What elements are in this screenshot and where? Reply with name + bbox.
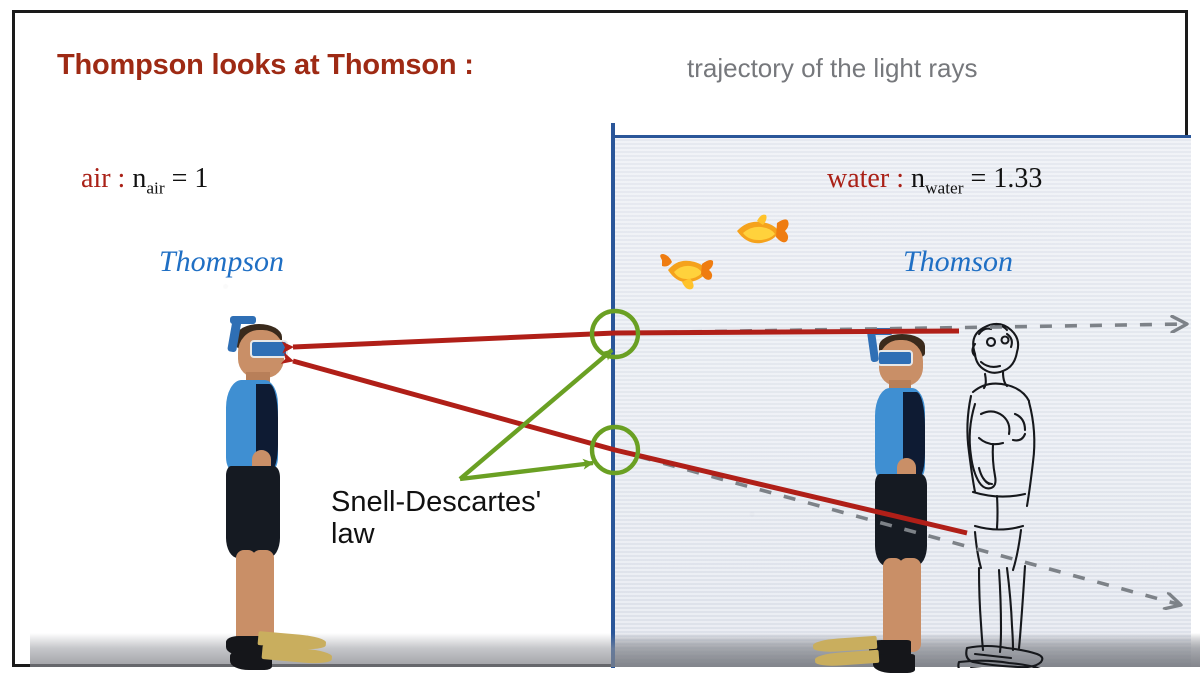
light-ray-lower (293, 361, 967, 533)
snell-pointer-lower (460, 463, 593, 479)
apparent-ray-lower (615, 450, 1181, 605)
light-ray-upper (293, 331, 959, 347)
figure-frame: Thompson looks at Thomson : trajectory o… (12, 10, 1188, 667)
figure-canvas: Thompson looks at Thomson : trajectory o… (0, 0, 1200, 687)
light-ray-overlay (15, 13, 1200, 687)
